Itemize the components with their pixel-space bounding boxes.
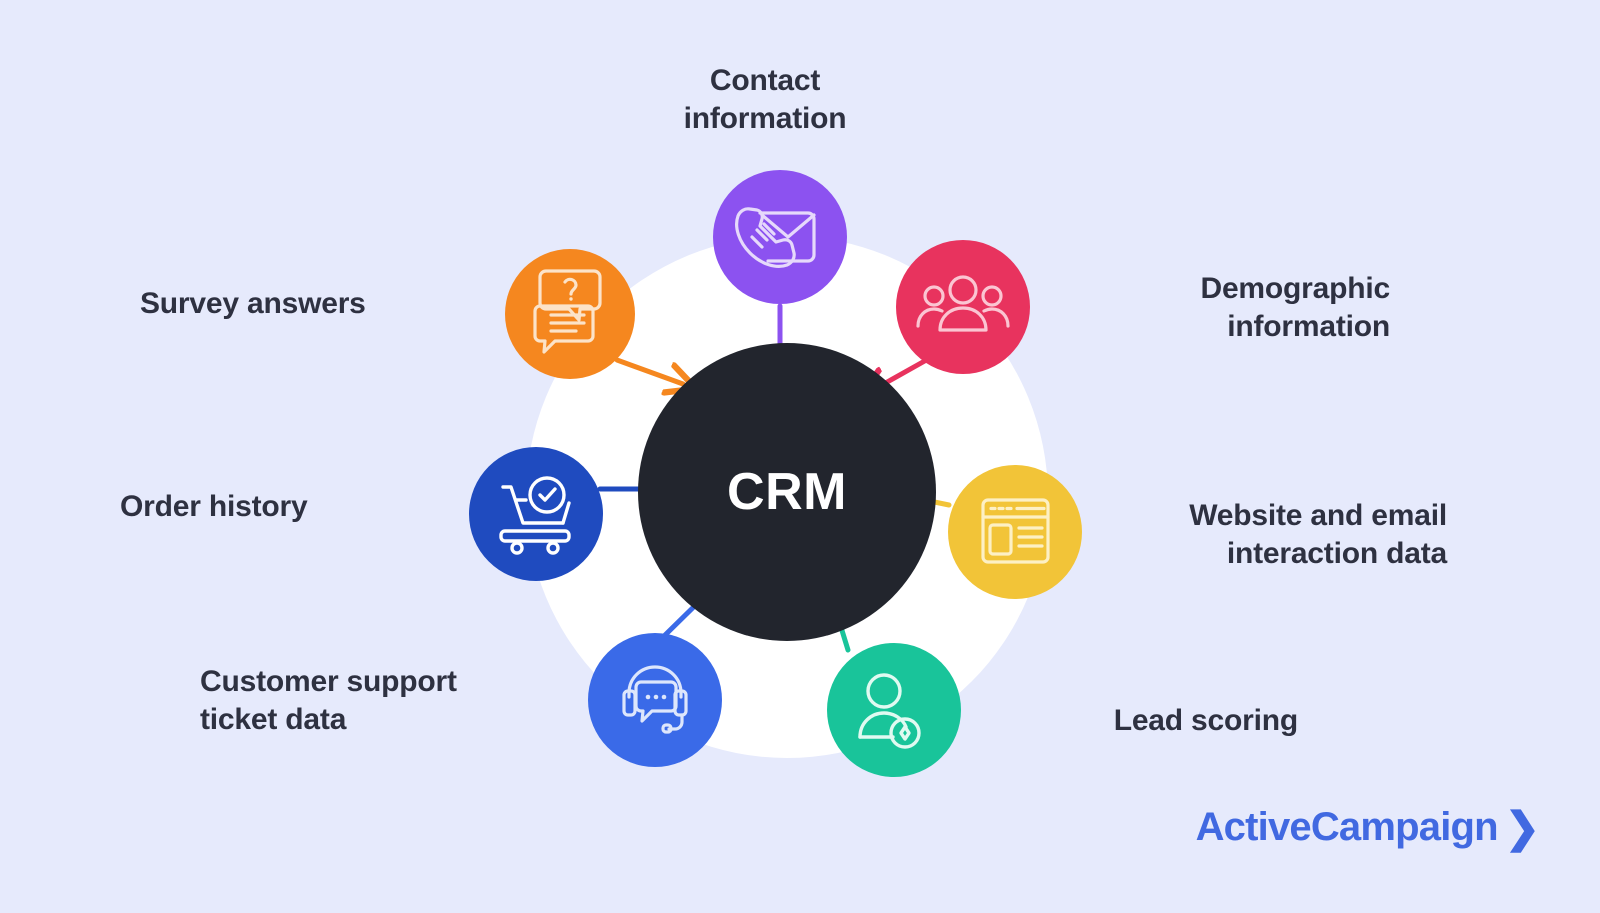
node-demographic-information[interactable]: [896, 240, 1030, 374]
label-demographic-information: Demographic information: [1050, 270, 1390, 347]
label-order-history: Order history: [120, 488, 450, 526]
label-website-and-email-interaction-data: Website and email interaction data: [1107, 497, 1447, 574]
chevron-right-icon: ❯: [1505, 809, 1540, 847]
diagram-canvas: CRM: [0, 0, 1600, 913]
node-website-and-email-interaction-data-circle: [948, 465, 1082, 599]
node-customer-support-ticket-data-circle: [588, 633, 722, 767]
crm-hub[interactable]: CRM: [638, 343, 936, 641]
label-survey-answers: Survey answers: [140, 285, 480, 323]
label-customer-support-ticket-data: Customer support ticket data: [200, 663, 565, 740]
label-contact-information: Contact information: [600, 62, 930, 139]
node-order-history-circle: [469, 447, 603, 581]
node-contact-information[interactable]: [713, 170, 847, 304]
node-survey-answers[interactable]: [505, 249, 635, 379]
node-lead-scoring[interactable]: [827, 643, 961, 777]
node-contact-information-circle: [713, 170, 847, 304]
brand-name: ActiveCampaign: [1196, 805, 1498, 850]
node-order-history[interactable]: [469, 447, 603, 581]
label-lead-scoring: Lead scoring: [968, 702, 1298, 740]
node-website-and-email-interaction-data[interactable]: [948, 465, 1082, 599]
activecampaign-logo[interactable]: ActiveCampaign ❯: [1196, 805, 1540, 850]
node-customer-support-ticket-data[interactable]: [588, 633, 722, 767]
crm-hub-label: CRM: [727, 463, 847, 521]
node-lead-scoring-circle: [827, 643, 961, 777]
